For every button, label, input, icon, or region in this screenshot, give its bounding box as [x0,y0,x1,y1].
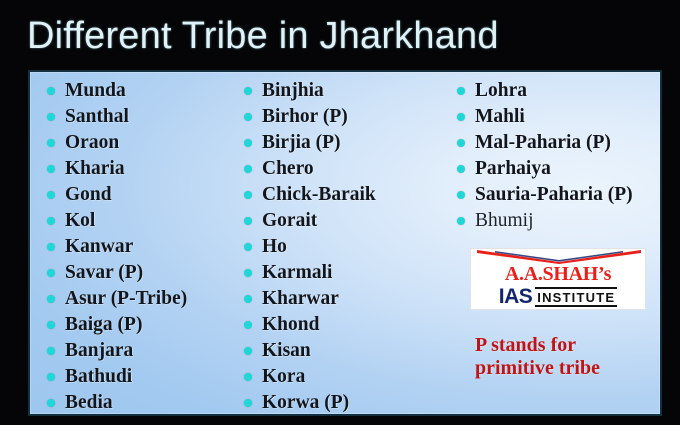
list-item: Kisan [235,338,445,364]
bullet-dot-icon [244,191,252,199]
list-item-label: Birhor (P) [262,106,348,127]
bullet-dot-icon [47,113,55,121]
list-item-label: Karmali [262,262,332,283]
list-item: Bathudi [38,364,243,390]
content-panel: MundaSanthalOraonKhariaGondKolKanwarSava… [28,70,662,416]
legend-note-line-1: P stands for [475,334,665,357]
list-item: Chick-Baraik [235,182,445,208]
bullet-dot-icon [244,113,252,121]
list-item-label: Birjia (P) [262,132,341,153]
list-item-label: Asur (P-Tribe) [65,288,187,309]
bullet-dot-icon [244,269,252,277]
list-item-label: Gorait [262,210,317,231]
bullet-dot-icon [47,321,55,329]
bullet-dot-icon [47,373,55,381]
bullet-dot-icon [244,373,252,381]
logo-ias-text: IAS [499,286,533,307]
bullet-dot-icon [47,269,55,277]
list-item: Bhumij [448,208,663,234]
bullet-dot-icon [457,113,465,121]
list-item-label: Mal-Paharia (P) [475,132,611,153]
legend-note: P stands for primitive tribe [475,334,665,380]
bullet-dot-icon [244,165,252,173]
list-item-label: Lohra [475,80,527,101]
bullet-dot-icon [47,217,55,225]
tribe-column-1: MundaSanthalOraonKhariaGondKolKanwarSava… [38,78,243,416]
list-item: Asur (P-Tribe) [38,286,243,312]
list-item-label: Bedia [65,392,113,413]
bullet-dot-icon [457,165,465,173]
bullet-dot-icon [47,347,55,355]
list-item-label: Binjhia [262,80,324,101]
list-item-label: Banjara [65,340,133,361]
bullet-dot-icon [47,191,55,199]
list-item-label: Baiga (P) [65,314,142,335]
logo-institute-text: INSTITUTE [535,287,617,307]
list-item: Korwa (P) [235,390,445,416]
list-item-label: Kharia [65,158,125,179]
page-title: Different Tribe in Jharkhand [27,10,647,62]
list-item-label: Chero [262,158,314,179]
list-item-label: Munda [65,80,126,101]
bullet-dot-icon [457,191,465,199]
bullet-dot-icon [244,217,252,225]
list-item: Gond [38,182,243,208]
list-item-label: Khond [262,314,319,335]
list-item: Oraon [38,130,243,156]
list-item-label: Savar (P) [65,262,143,283]
brand-logo: A.A.SHAH’s IAS INSTITUTE [470,248,646,310]
tribe-list-3: LohraMahliMal-Paharia (P)ParhaiyaSauria-… [448,78,663,234]
bullet-dot-icon [457,87,465,95]
logo-subtitle: IAS INSTITUTE [471,285,645,308]
list-item: Birhor (P) [235,104,445,130]
bullet-dot-icon [244,87,252,95]
list-item: Khond [235,312,445,338]
list-item-label: Kisan [262,340,311,361]
list-item: Munda [38,78,243,104]
bullet-dot-icon [47,243,55,251]
list-item-label: Ho [262,236,287,257]
tribe-column-3: LohraMahliMal-Paharia (P)ParhaiyaSauria-… [448,78,663,234]
list-item-label: Bathudi [65,366,132,387]
logo-brand-name: A.A.SHAH’s [471,264,645,285]
bullet-dot-icon [244,243,252,251]
list-item: Kora [235,364,445,390]
list-item-label: Santhal [65,106,129,127]
bullet-dot-icon [47,87,55,95]
list-item: Kanwar [38,234,243,260]
list-item: Baiga (P) [38,312,243,338]
list-item: Bedia [38,390,243,416]
list-item: Kharia [38,156,243,182]
bullet-dot-icon [47,139,55,147]
list-item-label: Bhumij [475,210,534,231]
bullet-dot-icon [244,399,252,407]
list-item-label: Sauria-Paharia (P) [475,184,633,205]
bullet-dot-icon [244,295,252,303]
legend-note-line-2: primitive tribe [475,357,665,380]
bullet-dot-icon [457,139,465,147]
list-item-label: Parhaiya [475,158,551,179]
chevron-down-swoosh-icon [471,249,645,264]
bullet-dot-icon [244,347,252,355]
list-item: Savar (P) [38,260,243,286]
list-item: Binjhia [235,78,445,104]
list-item: Sauria-Paharia (P) [448,182,663,208]
list-item: Lohra [448,78,663,104]
list-item: Gorait [235,208,445,234]
list-item: Kol [38,208,243,234]
bullet-dot-icon [47,295,55,303]
list-item-label: Kora [262,366,305,387]
list-item: Chero [235,156,445,182]
tribe-list-2: BinjhiaBirhor (P)Birjia (P)CheroChick-Ba… [235,78,445,416]
list-item: Mahli [448,104,663,130]
list-item: Banjara [38,338,243,364]
list-item-label: Gond [65,184,112,205]
list-item-label: Korwa (P) [262,392,349,413]
tribe-list-1: MundaSanthalOraonKhariaGondKolKanwarSava… [38,78,243,416]
list-item-label: Kanwar [65,236,133,257]
list-item-label: Oraon [65,132,119,153]
list-item-label: Kharwar [262,288,339,309]
bullet-dot-icon [457,217,465,225]
bullet-dot-icon [47,399,55,407]
list-item-label: Mahli [475,106,525,127]
tribe-column-2: BinjhiaBirhor (P)Birjia (P)CheroChick-Ba… [235,78,445,416]
list-item: Ho [235,234,445,260]
list-item: Karmali [235,260,445,286]
list-item-label: Kol [65,210,95,231]
bullet-dot-icon [244,321,252,329]
list-item: Parhaiya [448,156,663,182]
slide-canvas: Different Tribe in Jharkhand MundaSantha… [0,0,680,425]
list-item: Santhal [38,104,243,130]
content-panel-inner: MundaSanthalOraonKhariaGondKolKanwarSava… [30,72,660,414]
bullet-dot-icon [244,139,252,147]
list-item: Kharwar [235,286,445,312]
list-item: Birjia (P) [235,130,445,156]
bullet-dot-icon [47,165,55,173]
list-item-label: Chick-Baraik [262,184,376,205]
list-item: Mal-Paharia (P) [448,130,663,156]
